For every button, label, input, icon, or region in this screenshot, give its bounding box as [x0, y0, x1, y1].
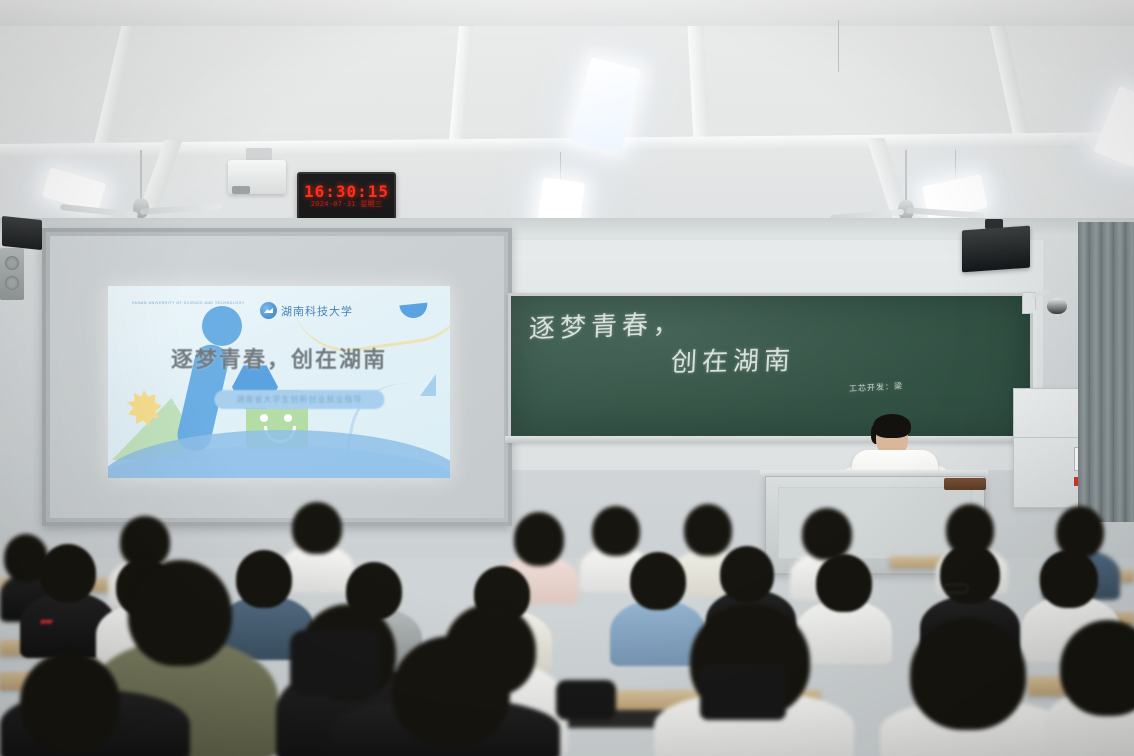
- audience-head: [802, 508, 852, 560]
- left-wall-speaker: [2, 216, 42, 250]
- blackboard: 逐梦青春， 创在湖南 工芯开发：梁: [511, 296, 1030, 439]
- backpack: [556, 680, 616, 720]
- blackboard-text-line-1: 逐梦青春，: [528, 303, 684, 345]
- light-stem: [560, 152, 561, 182]
- shirt-graphic: ▰▰: [40, 616, 52, 627]
- projector-lens-icon: [232, 186, 250, 194]
- slide: 湖南科技大学 HUNAN UNIVERSITY OF SCIENCE AND T…: [108, 286, 450, 478]
- audience-head: [236, 550, 292, 608]
- window-curtain: [1078, 222, 1134, 522]
- audience-head: [940, 544, 1000, 604]
- slide-subtitle-pill: 湖南省大学生创新创业就业指导: [214, 390, 384, 409]
- audience-head: [630, 552, 686, 610]
- blackboard-corner-note: 工芯开发：梁: [849, 381, 904, 395]
- wall-rail: [498, 255, 1038, 261]
- audience-head: [816, 554, 872, 612]
- blackboard-frame: 逐梦青春， 创在湖南 工芯开发：梁: [508, 293, 1033, 442]
- backpack: [700, 664, 786, 720]
- podium-wood-block: [944, 478, 986, 490]
- led-wall-clock: 16:30:15 2024-07-31 星期三: [297, 172, 396, 220]
- audience-head: [20, 652, 120, 752]
- wall-conduit: [1033, 310, 1037, 388]
- slide-smiley-eye: [284, 414, 292, 422]
- university-logo-mark-icon: [260, 302, 277, 319]
- audience-head: [684, 504, 732, 556]
- backpack: [290, 630, 380, 696]
- audience-head: [392, 636, 510, 746]
- slide-university-logo: 湖南科技大学: [260, 302, 353, 319]
- ceiling-beam-horizontal: [0, 0, 1134, 26]
- audience-head: [720, 546, 774, 602]
- lecture-hall-photo: 16:30:15 2024-07-31 星期三: [0, 0, 1134, 756]
- clock-date: 2024-07-31 星期三: [311, 201, 383, 208]
- clock-time: 16:30:15: [304, 184, 389, 200]
- light-stem: [955, 150, 956, 182]
- glasses-icon: [944, 584, 968, 593]
- chalk-tray: [505, 436, 1030, 443]
- slide-logo-text: 湖南科技大学: [281, 303, 353, 319]
- presenter-hair: [873, 414, 911, 438]
- audience-head: [910, 618, 1026, 730]
- slide-logo-subtext: HUNAN UNIVERSITY OF SCIENCE AND TECHNOLO…: [132, 301, 245, 305]
- audience-head: [1040, 550, 1098, 608]
- projection-screen: 湖南科技大学 HUNAN UNIVERSITY OF SCIENCE AND T…: [42, 228, 512, 526]
- audience-head: [592, 506, 640, 556]
- audience-head: [514, 512, 564, 566]
- blackboard-text-line-2: 创在湖南: [670, 340, 796, 379]
- left-wall-speaker-grille: [0, 248, 24, 300]
- audience-head: [128, 560, 232, 666]
- slide-figure-head: [202, 306, 242, 346]
- right-wall-speaker: [962, 226, 1030, 273]
- audience-head: [40, 544, 96, 602]
- audience-head: [292, 502, 342, 554]
- projection-screen-surface: 湖南科技大学 HUNAN UNIVERSITY OF SCIENCE AND T…: [50, 236, 504, 518]
- slide-smiley-eye: [260, 414, 268, 422]
- light-stem: [838, 20, 839, 72]
- slide-title: 逐梦青春，创在湖南: [108, 342, 450, 374]
- security-camera-icon: [1047, 298, 1067, 314]
